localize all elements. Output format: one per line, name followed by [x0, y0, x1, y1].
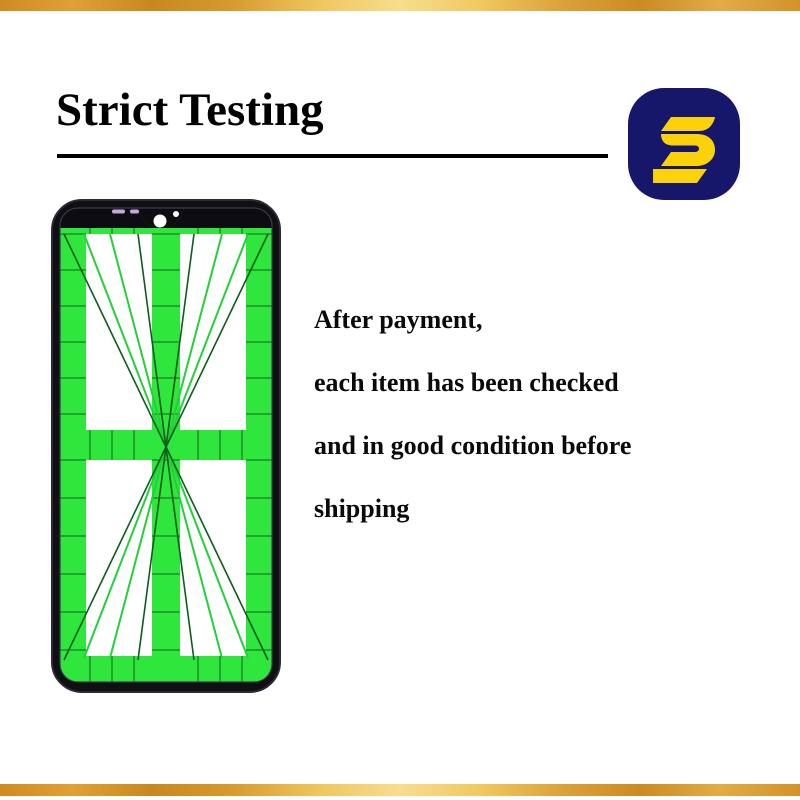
brand-logo: [627, 87, 741, 201]
page-title: Strict Testing: [56, 86, 324, 135]
phone-mockup: [50, 198, 282, 694]
promo-banner: Strict Testing: [0, 0, 800, 800]
description-line: After payment,: [314, 288, 754, 351]
description-line: and in good condition before: [314, 414, 754, 477]
description-line: shipping: [314, 477, 754, 540]
description-line: each item has been checked: [314, 351, 754, 414]
description-text: After payment, each item has been checke…: [314, 288, 754, 540]
title-underline-rule: [57, 154, 608, 158]
bottom-gold-divider: [0, 784, 800, 796]
top-gold-divider: [0, 0, 800, 11]
